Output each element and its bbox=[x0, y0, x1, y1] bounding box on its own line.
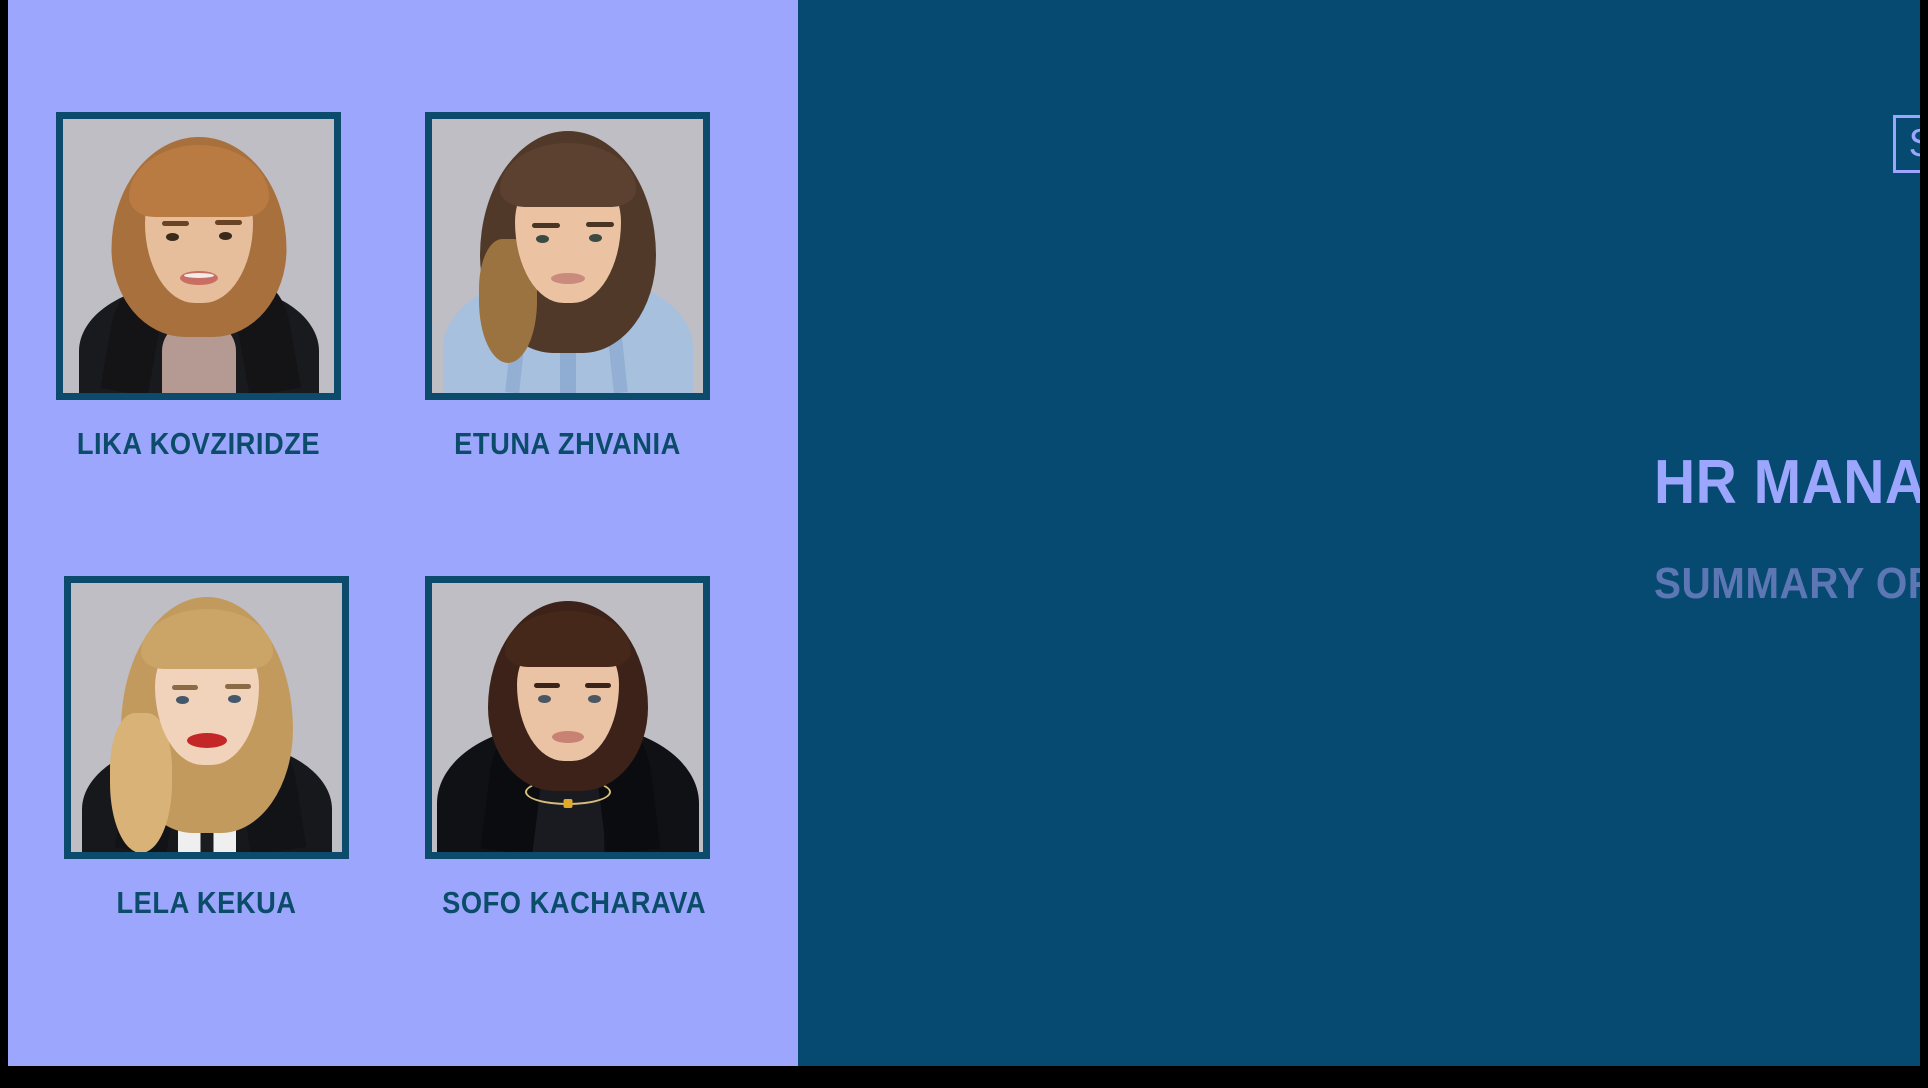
photo-frame-2 bbox=[425, 112, 710, 400]
right-content-panel: SMART Support Smart academy bbox=[798, 0, 1920, 1066]
person-card-4[interactable]: SOFO KACHARAVA bbox=[425, 576, 710, 921]
page-title: HR MANAGEMENT IN PRACTICE bbox=[1654, 452, 1920, 514]
person-name-4: SOFO KACHARAVA bbox=[442, 885, 693, 921]
slide-canvas: LIKA KOVZIRIDZE bbox=[8, 0, 1920, 1066]
slide-root: LIKA KOVZIRIDZE bbox=[0, 0, 1928, 1088]
smart-support-wordmark: SMART bbox=[1893, 115, 1920, 173]
person-card-2[interactable]: ETUNA ZHVANIA bbox=[425, 112, 710, 462]
portrait-lela-kekua bbox=[71, 583, 342, 852]
portrait-sofo-kacharava bbox=[432, 583, 703, 852]
page-subtitle: SUMMARY OF THE THIRD COURSE bbox=[1654, 562, 1920, 606]
portrait-etuna-zhvania bbox=[432, 119, 703, 393]
smart-support-logo[interactable]: SMART Support bbox=[1893, 111, 1920, 197]
person-name-1: LIKA KOVZIRIDZE bbox=[73, 426, 324, 462]
person-card-1[interactable]: LIKA KOVZIRIDZE bbox=[56, 112, 341, 462]
person-name-2: ETUNA ZHVANIA bbox=[442, 426, 693, 462]
photo-frame-1 bbox=[56, 112, 341, 400]
person-name-3: LELA KEKUA bbox=[81, 885, 332, 921]
person-card-3[interactable]: LELA KEKUA bbox=[64, 576, 349, 921]
photo-frame-4 bbox=[425, 576, 710, 859]
portrait-lika-kovziridze bbox=[63, 119, 334, 393]
logo-bar: SMART Support Smart academy bbox=[1893, 108, 1920, 200]
headline-block: HR MANAGEMENT IN PRACTICE SUMMARY OF THE… bbox=[1654, 452, 1920, 606]
photo-frame-3 bbox=[64, 576, 349, 859]
left-photo-panel: LIKA KOVZIRIDZE bbox=[8, 0, 798, 1066]
